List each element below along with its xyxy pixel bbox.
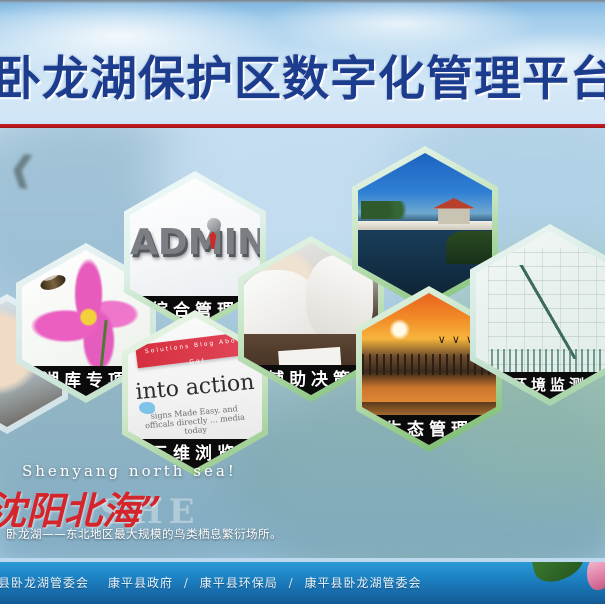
footer-owner: 康平县卧龙湖管委会 (0, 574, 89, 591)
footer-link-epb[interactable]: 康平县环保局 (200, 576, 278, 590)
hex-image-environmental-monitoring: 环境监测 (476, 231, 605, 399)
lotus-flower-icon (587, 562, 605, 590)
bee-icon (39, 273, 68, 293)
footer-separator-1: / (178, 576, 195, 590)
footer-links: 康平县政府 / 康平县环保局 / 康平县卧龙湖管委会 (108, 574, 421, 591)
footer-link-committee[interactable]: 康平县卧龙湖管委会 (304, 576, 421, 590)
header-top-border (0, 0, 605, 3)
header-banner: 卧龙湖保护区数字化管理平台 (0, 0, 605, 126)
lake-reeds (446, 231, 492, 264)
hero-caption: 卧龙湖——东北地区最大规模的鸟类栖息繁衍场所。 (6, 526, 282, 542)
flying-bird-icon: ❰ (6, 150, 39, 188)
lotus-leaf-icon (530, 562, 589, 586)
page-title: 卧龙湖保护区数字化管理平台 (0, 52, 605, 108)
footer-bar: 康平县卧龙湖管委会 康平县政府 / 康平县环保局 / 康平县卧龙湖管委会 (0, 562, 605, 604)
page-root: 卧龙湖保护区数字化管理平台 ❰ ∨ 湖库专项 (0, 0, 605, 604)
admin-word-text: ADMIN (130, 222, 260, 263)
footer-separator-2: / (283, 576, 300, 590)
chart-trend-line (488, 265, 605, 359)
pavilion-icon (432, 198, 476, 224)
twitter-bird-icon (139, 402, 155, 414)
lake-bridge-railing (358, 221, 492, 230)
lotus-decoration (541, 562, 605, 604)
slogan-english: Shenyang north sea! (22, 462, 237, 480)
footer-link-government[interactable]: 康平县政府 (108, 576, 173, 590)
lake-trees (361, 201, 415, 219)
